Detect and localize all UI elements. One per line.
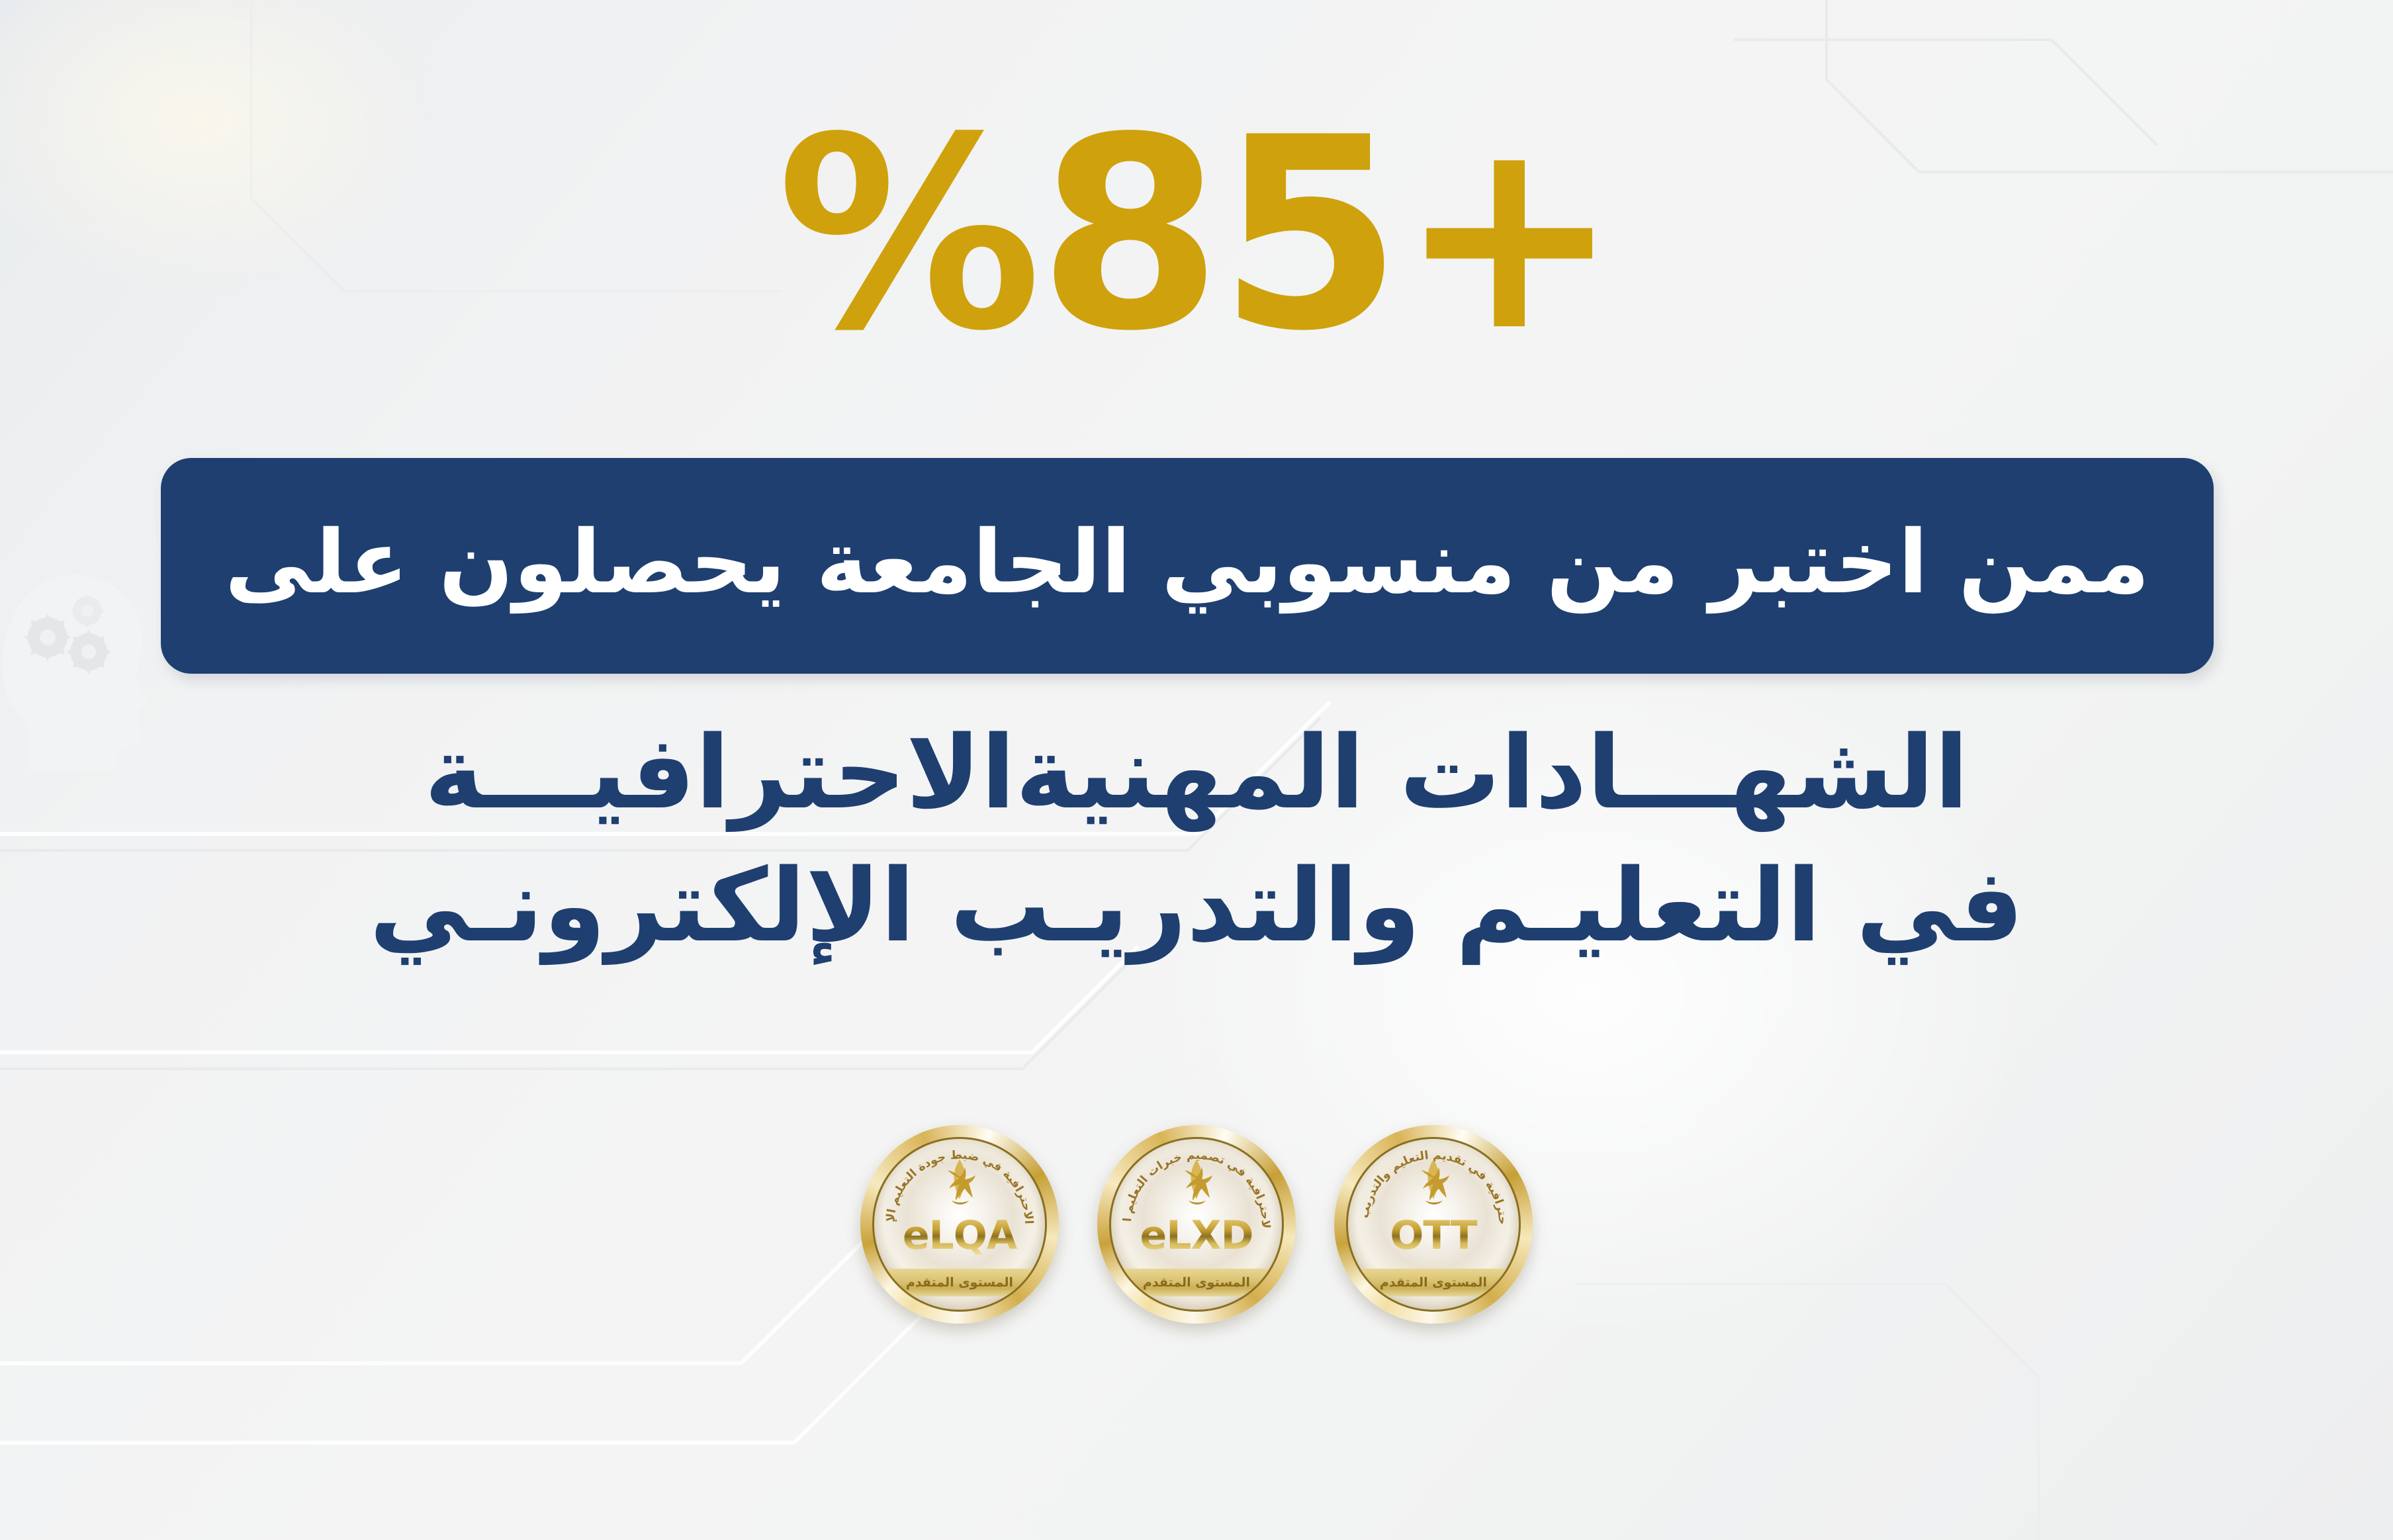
medal-level-band: المستوى المتقدم [1111,1269,1282,1296]
medal-ott: المهنية الاحترافية في تقديم التعليم والت… [1334,1125,1533,1324]
medal-code: eLQA [874,1216,1045,1255]
medal-elqa: المهنية الاحترافية في ضبط جودة التعليم ا… [860,1125,1059,1324]
medal-face: المهنية الاحترافية في تقديم التعليم والت… [1346,1137,1521,1312]
main-heading: الشهـــادات المهنيةالاحترافيـــة في التع… [0,707,2393,972]
medal-code: OTT [1348,1216,1519,1255]
medal-elxd: المهنية الاحترافية في تصميم خبرات التعلي… [1097,1125,1296,1324]
certification-medals-row: المهنية الاحترافية في ضبط جودة التعليم ا… [0,1125,2393,1324]
medal-code: eLXD [1111,1216,1282,1255]
palm-and-swords-emblem-icon [1416,1157,1451,1210]
palm-and-swords-emblem-icon [942,1157,977,1210]
main-heading-line-2: في التعليـم والتدريـب الإلكترونـي [0,840,2393,973]
banner-text: ممن اختبر من منسوبي الجامعة يحصلون على [225,519,2150,613]
medal-level-band: المستوى المتقدم [874,1269,1045,1296]
medal-level-label: المستوى المتقدم [1380,1275,1487,1290]
highlight-banner: ممن اختبر من منسوبي الجامعة يحصلون على [161,458,2214,674]
page-title-percent: %85+ [0,101,2393,371]
medal-face: المهنية الاحترافية في ضبط جودة التعليم ا… [872,1137,1047,1312]
palm-and-swords-emblem-icon [1179,1157,1214,1210]
main-heading-line-1: الشهـــادات المهنيةالاحترافيـــة [0,707,2393,840]
medal-level-label: المستوى المتقدم [1143,1275,1250,1290]
medal-level-label: المستوى المتقدم [906,1275,1013,1290]
medal-level-band: المستوى المتقدم [1348,1269,1519,1296]
medal-face: المهنية الاحترافية في تصميم خبرات التعلي… [1109,1137,1284,1312]
infographic-canvas: %85+ ممن اختبر من منسوبي الجامعة يحصلون … [0,0,2393,1540]
